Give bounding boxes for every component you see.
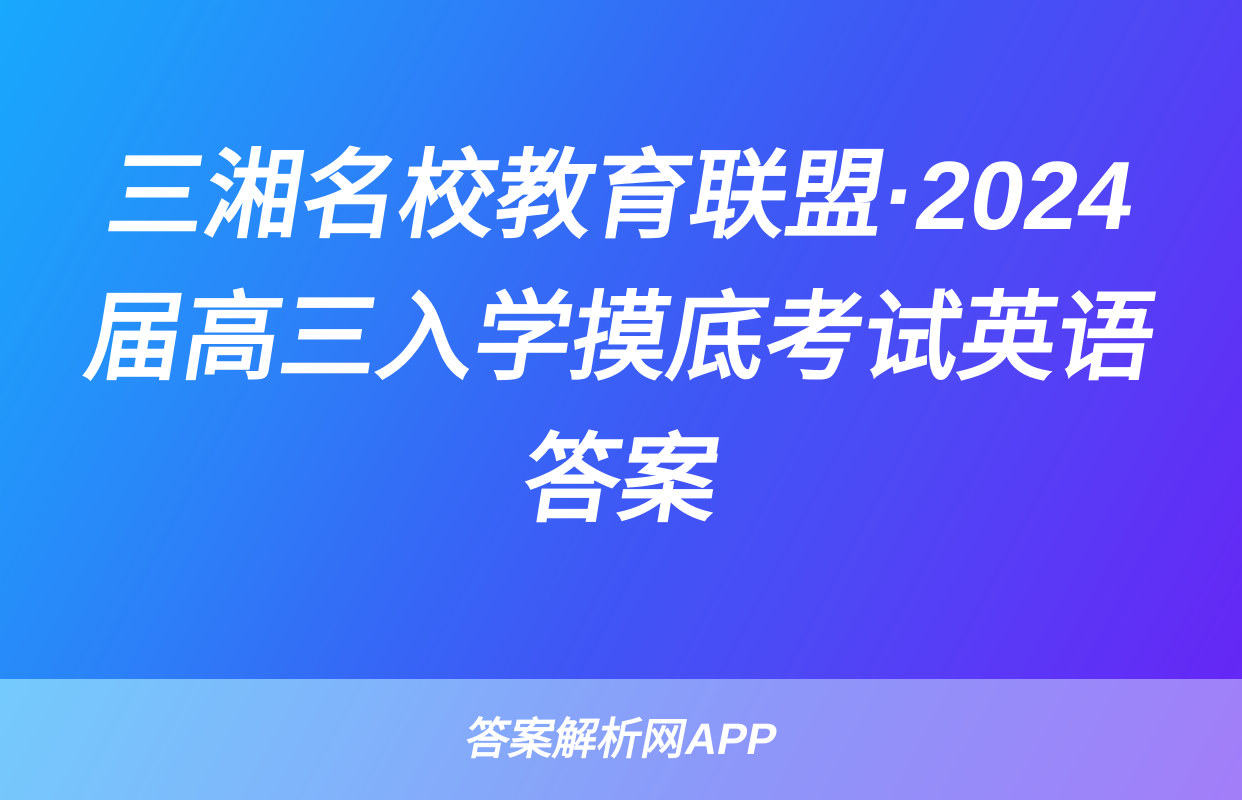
title-line-1: 三湘名校教育联盟·2024 [60,125,1182,267]
footer-watermark-band: 答案解析网APP [0,679,1242,800]
title-line-3: 答案 [60,409,1182,551]
title-line-2: 届高三入学摸底考试英语 [60,267,1182,409]
hero-gradient-panel: 三湘名校教育联盟·2024 届高三入学摸底考试英语 答案 [0,0,1242,679]
poster-container: 三湘名校教育联盟·2024 届高三入学摸底考试英语 答案 答案解析网APP [0,0,1242,800]
page-title: 三湘名校教育联盟·2024 届高三入学摸底考试英语 答案 [71,125,1171,555]
app-watermark-label: 答案解析网APP [461,714,782,766]
